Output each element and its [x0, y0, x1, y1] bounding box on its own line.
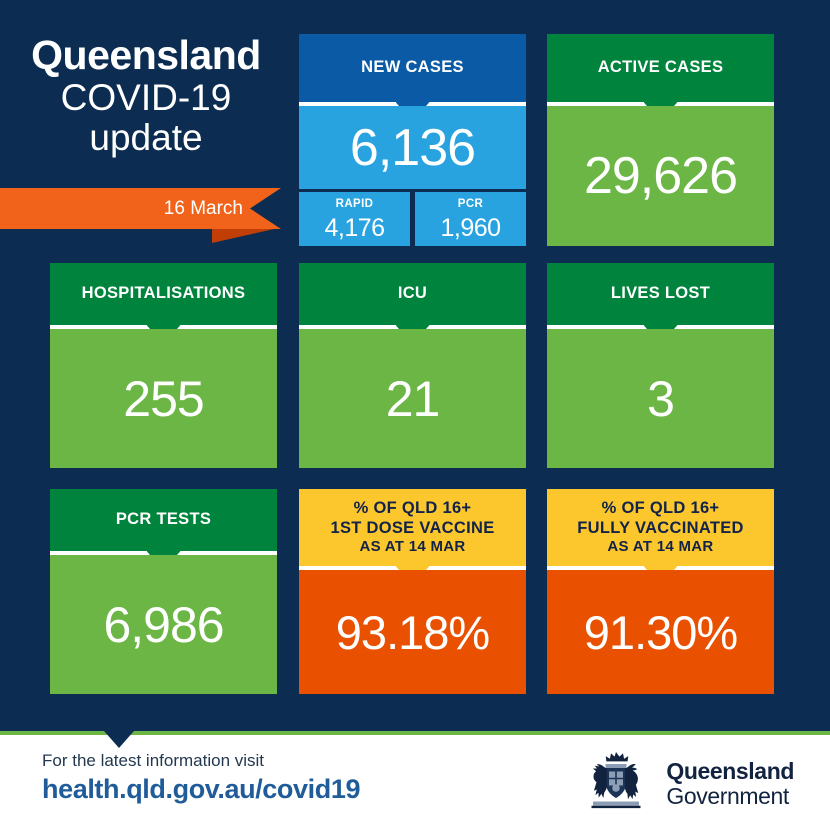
card-hospitalisations: HOSPITALISATIONS 255 [50, 263, 277, 468]
card-active-cases-value: 29,626 [584, 150, 737, 202]
card-fully-vaccinated-header-line1: % OF QLD 16+ [577, 499, 743, 518]
new-cases-breakdown: RAPID 4,176 PCR 1,960 [299, 192, 526, 246]
subbox-pcr-label: PCR [458, 199, 483, 211]
card-icu-header: ICU [299, 263, 526, 325]
card-icu-header-text: ICU [392, 284, 433, 303]
date-label: 16 March [0, 188, 243, 229]
card-new-cases-body: 6,136 [299, 106, 526, 189]
card-first-dose-value: 93.18% [336, 609, 489, 656]
title-line-update: update [0, 119, 292, 157]
card-fully-vaccinated-header: % OF QLD 16+ FULLY VACCINATED AS AT 14 M… [547, 489, 774, 566]
card-new-cases-header-text: NEW CASES [355, 58, 470, 77]
card-icu-value: 21 [386, 374, 440, 424]
card-fully-vaccinated: % OF QLD 16+ FULLY VACCINATED AS AT 14 M… [547, 489, 774, 694]
card-first-dose-header-line1: % OF QLD 16+ [330, 499, 494, 518]
card-lives-lost-header: LIVES LOST [547, 263, 774, 325]
card-hospitalisations-header-text: HOSPITALISATIONS [76, 284, 252, 303]
page-title: Queensland COVID-19 update [0, 34, 292, 158]
card-new-cases-header: NEW CASES [299, 34, 526, 102]
card-new-cases-value: 6,136 [350, 122, 475, 174]
subbox-rapid: RAPID 4,176 [299, 192, 410, 246]
card-hospitalisations-body: 255 [50, 329, 277, 468]
card-first-dose-vaccine: % OF QLD 16+ 1ST DOSE VACCINE AS AT 14 M… [299, 489, 526, 694]
coat-of-arms-icon [579, 750, 653, 817]
footer-intro-text: For the latest information visit [42, 751, 360, 771]
card-fully-vaccinated-header-text: % OF QLD 16+ FULLY VACCINATED AS AT 14 M… [571, 499, 749, 556]
card-icu-body: 21 [299, 329, 526, 468]
logo-wordmark: Queensland Government [666, 759, 794, 807]
card-new-cases: NEW CASES 6,136 [299, 34, 526, 189]
queensland-government-logo: Queensland Government [579, 750, 794, 817]
card-lives-lost-body: 3 [547, 329, 774, 468]
subbox-pcr: PCR 1,960 [415, 192, 526, 246]
title-line-covid19: COVID-19 [0, 79, 292, 117]
footer: For the latest information visit health.… [0, 735, 830, 827]
ribbon-shadow-fold [212, 229, 274, 243]
card-active-cases-header: ACTIVE CASES [547, 34, 774, 102]
card-lives-lost-value: 3 [647, 374, 674, 424]
subbox-rapid-value: 4,176 [324, 216, 384, 241]
card-fully-vaccinated-header-line3: AS AT 14 MAR [577, 538, 743, 556]
card-active-cases-header-text: ACTIVE CASES [592, 58, 730, 77]
card-first-dose-header-line2: 1ST DOSE VACCINE [330, 519, 494, 538]
card-pcr-tests-header-text: PCR TESTS [110, 510, 217, 529]
card-hospitalisations-header: HOSPITALISATIONS [50, 263, 277, 325]
card-pcr-tests-header: PCR TESTS [50, 489, 277, 551]
footer-info: For the latest information visit health.… [42, 751, 360, 805]
card-icu: ICU 21 [299, 263, 526, 468]
card-pcr-tests-body: 6,986 [50, 555, 277, 694]
title-line-queensland: Queensland [0, 34, 292, 77]
subbox-rapid-label: RAPID [336, 199, 374, 211]
qld-covid-update-infographic: Queensland COVID-19 update 16 March NEW … [0, 0, 830, 827]
card-fully-vaccinated-body: 91.30% [547, 570, 774, 694]
card-first-dose-body: 93.18% [299, 570, 526, 694]
card-pcr-tests: PCR TESTS 6,986 [50, 489, 277, 694]
card-active-cases: ACTIVE CASES 29,626 [547, 34, 774, 246]
card-first-dose-header-line3: AS AT 14 MAR [330, 538, 494, 556]
date-ribbon: 16 March [0, 188, 290, 244]
card-lives-lost: LIVES LOST 3 [547, 263, 774, 468]
card-active-cases-body: 29,626 [547, 106, 774, 246]
logo-line-queensland: Queensland [666, 759, 794, 783]
card-fully-vaccinated-value: 91.30% [584, 609, 737, 656]
card-lives-lost-header-text: LIVES LOST [605, 284, 716, 303]
card-first-dose-header: % OF QLD 16+ 1ST DOSE VACCINE AS AT 14 M… [299, 489, 526, 566]
card-fully-vaccinated-header-line2: FULLY VACCINATED [577, 519, 743, 538]
subbox-pcr-value: 1,960 [440, 216, 500, 241]
card-hospitalisations-value: 255 [123, 374, 203, 424]
card-first-dose-header-text: % OF QLD 16+ 1ST DOSE VACCINE AS AT 14 M… [324, 499, 500, 556]
footer-url-link[interactable]: health.qld.gov.au/covid19 [42, 774, 360, 805]
card-pcr-tests-value: 6,986 [103, 600, 223, 650]
logo-line-government: Government [666, 784, 794, 808]
